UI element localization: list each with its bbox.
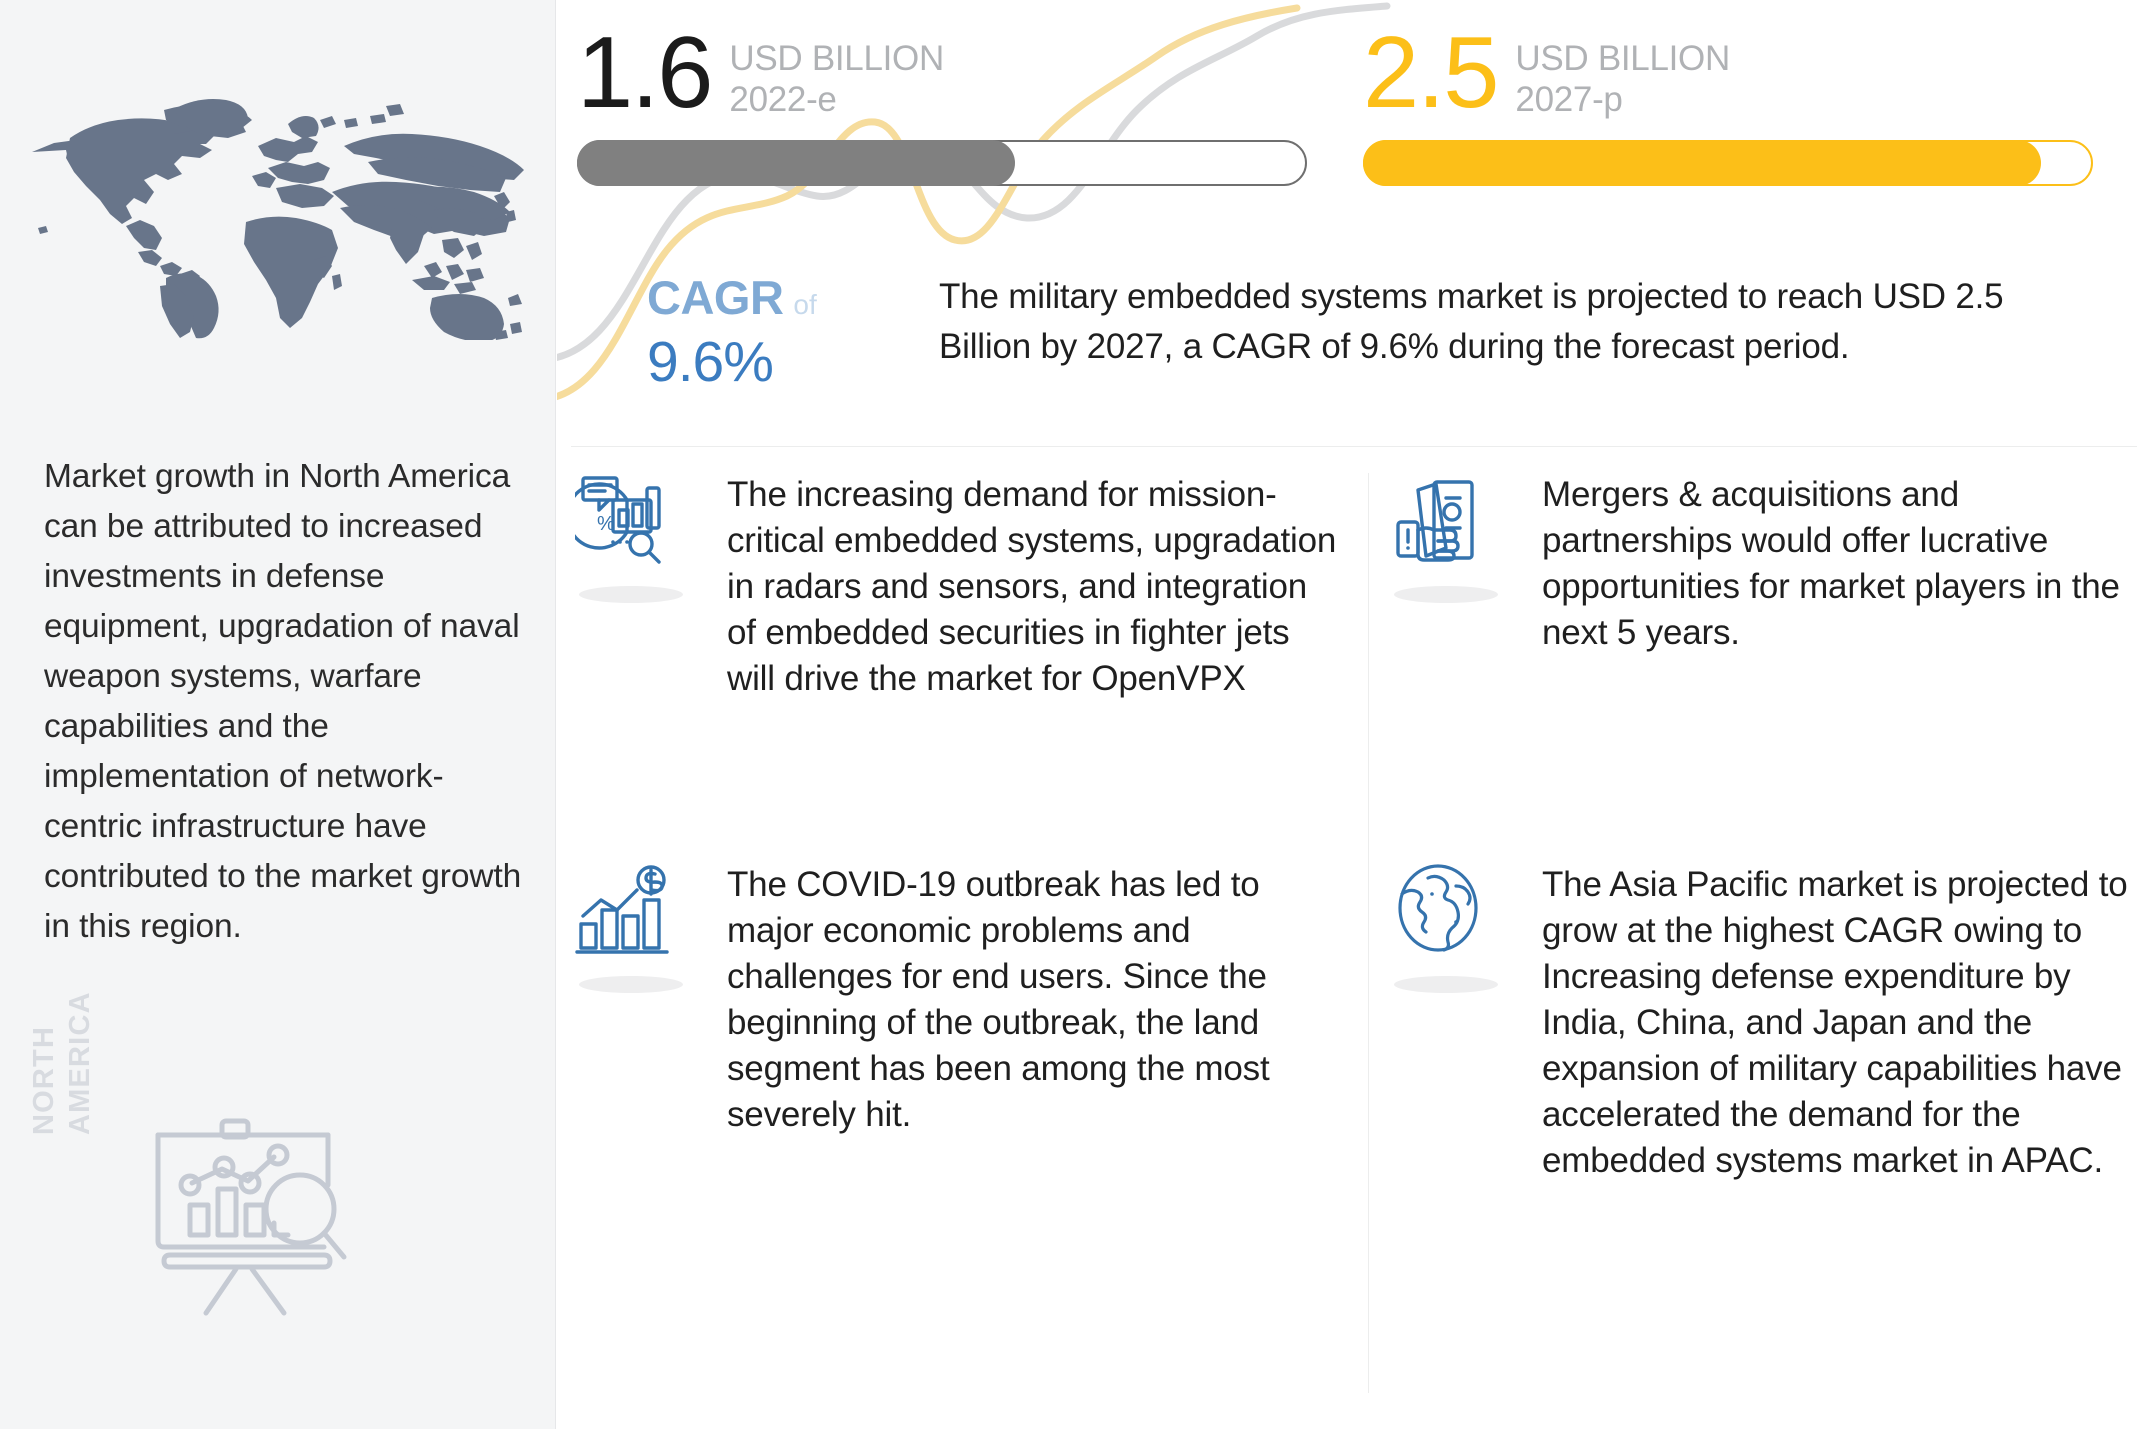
infographic-root: Market growth in North America can be at… bbox=[0, 0, 2153, 1429]
metric-current-value-block: 1.6 USD BILLION 2022-e bbox=[577, 22, 1317, 186]
vertical-divider bbox=[1368, 473, 1369, 1393]
icon-shadow bbox=[579, 976, 683, 993]
metric-current-caption: USD BILLION 2022-e bbox=[729, 38, 944, 120]
cagr-of-label: of bbox=[793, 279, 816, 331]
icon-shadow bbox=[1394, 586, 1498, 603]
metric-current-progress-bar bbox=[577, 140, 1307, 186]
cagr-label: CAGR bbox=[647, 272, 783, 324]
left-region-panel: Market growth in North America can be at… bbox=[0, 0, 556, 1429]
metric-current-head: 1.6 USD BILLION 2022-e bbox=[577, 22, 1317, 130]
region-footer-block: NORTH AMERICA bbox=[38, 1105, 458, 1325]
insight-card-drivers: % The increasing demand for mission-c bbox=[575, 470, 1345, 702]
insight-text: Mergers & acquisitions and partnerships … bbox=[1542, 470, 2150, 656]
cagr-value: 9.6% bbox=[647, 331, 877, 393]
market-analysis-pie-chart-icon: % bbox=[575, 470, 705, 620]
globe-icon bbox=[1390, 860, 1520, 1010]
metric-current-period: 2022-e bbox=[729, 79, 944, 120]
insight-card-covid-impact: The COVID-19 outbreak has led to major e… bbox=[575, 860, 1345, 1138]
region-vertical-label: NORTH AMERICA bbox=[26, 965, 96, 1135]
metric-forecast-head: 2.5 USD BILLION 2027-p bbox=[1363, 22, 2103, 130]
hand-holding-money-icon bbox=[1390, 470, 1520, 620]
insight-text: The COVID-19 outbreak has led to major e… bbox=[727, 860, 1345, 1138]
region-description-text: Market growth in North America can be at… bbox=[44, 452, 526, 952]
market-projection-statement: The military embedded systems market is … bbox=[939, 272, 2049, 372]
metric-forecast-unit: USD BILLION bbox=[1515, 39, 1730, 78]
world-map-icon bbox=[14, 80, 544, 340]
metric-forecast-number: 2.5 bbox=[1363, 22, 1497, 124]
main-content: 1.6 USD BILLION 2022-e 2.5 USD BILLION 2… bbox=[557, 0, 2153, 1429]
presentation-board-analysis-icon bbox=[118, 1105, 368, 1325]
insight-text: The Asia Pacific market is projected to … bbox=[1542, 860, 2150, 1184]
growth-bar-chart-dollar-icon bbox=[575, 860, 705, 1010]
horizontal-divider bbox=[571, 446, 2137, 447]
metric-forecast-caption: USD BILLION 2027-p bbox=[1515, 38, 1730, 120]
region-label-line2: AMERICA bbox=[62, 991, 98, 1135]
metric-current-number: 1.6 bbox=[577, 22, 711, 124]
metric-forecast-progress-fill bbox=[1363, 140, 2042, 186]
metric-forecast-value-block: 2.5 USD BILLION 2027-p bbox=[1363, 22, 2103, 186]
icon-shadow bbox=[1394, 976, 1498, 993]
region-label-line1: NORTH bbox=[26, 1026, 62, 1135]
metric-current-progress-fill bbox=[577, 140, 1015, 186]
metric-forecast-period: 2027-p bbox=[1515, 79, 1730, 120]
metric-forecast-progress-bar bbox=[1363, 140, 2093, 186]
cagr-block: CAGR of 9.6% bbox=[647, 272, 877, 393]
metric-current-unit: USD BILLION bbox=[729, 39, 944, 78]
insight-text: The increasing demand for mission-critic… bbox=[727, 470, 1345, 702]
icon-shadow bbox=[579, 586, 683, 603]
cagr-label-row: CAGR of bbox=[647, 272, 877, 331]
insight-card-apac: The Asia Pacific market is projected to … bbox=[1390, 860, 2150, 1184]
insight-card-opportunities: Mergers & acquisitions and partnerships … bbox=[1390, 470, 2150, 656]
